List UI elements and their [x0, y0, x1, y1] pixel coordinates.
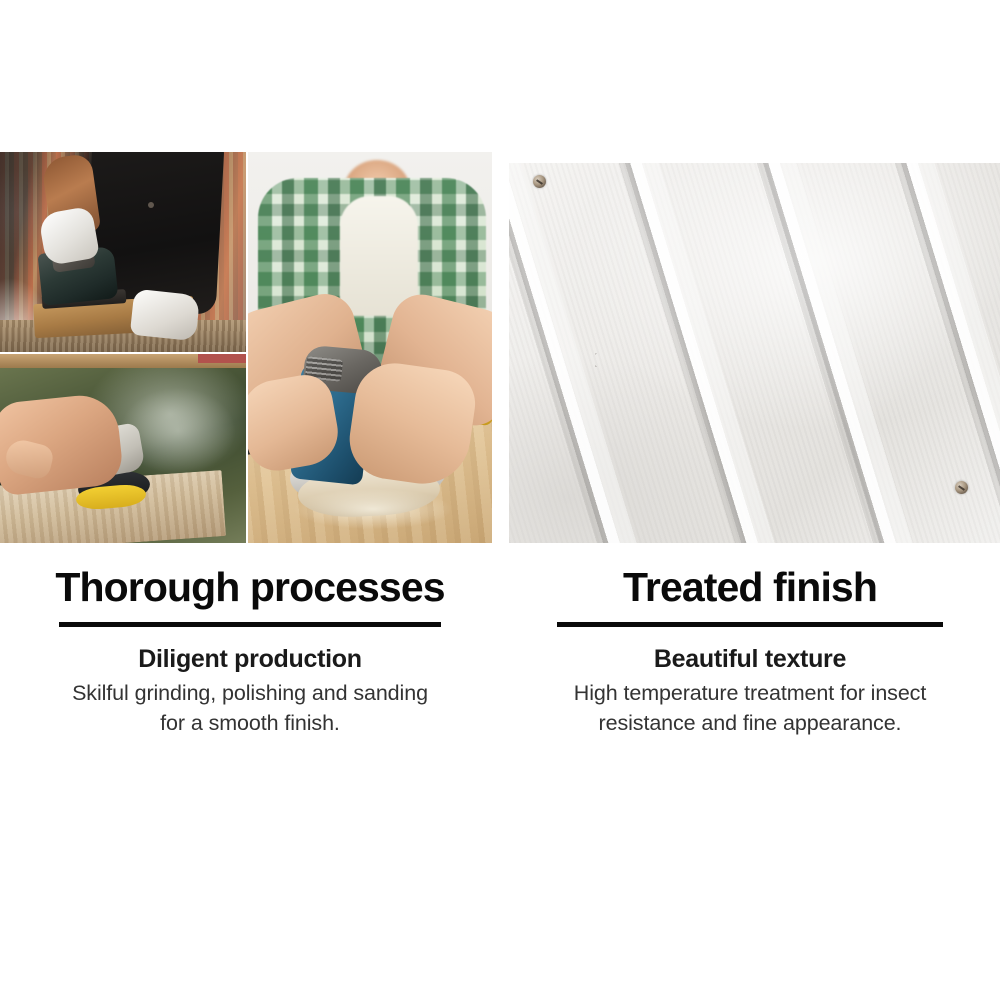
feature-title: Thorough processes: [0, 566, 500, 609]
screw-icon: [955, 481, 968, 494]
title-divider: [557, 622, 943, 627]
orbital-sander-photo: [248, 152, 492, 543]
thorough-processes-collage: [0, 152, 492, 543]
collage-right-column: [248, 152, 492, 543]
collage-left-column: [0, 152, 246, 543]
work-glove-right: [130, 289, 200, 342]
screw-icon: [533, 175, 546, 188]
treated-finish-text-block: Treated finish Beautiful texture High te…: [500, 566, 1000, 739]
surface-blemish: [595, 353, 611, 367]
media-band: [0, 0, 1000, 552]
product-feature-page: Thorough processes Diligent production S…: [0, 0, 1000, 1000]
sawdust-haze: [268, 482, 478, 536]
feature-subtitle: Diligent production: [0, 645, 500, 673]
feature-title: Treated finish: [500, 566, 1000, 609]
sanding-workshop-photo: [0, 152, 246, 352]
timber-grain-texture: [509, 163, 1000, 543]
title-divider: [59, 622, 441, 627]
feature-subtitle: Beautiful texture: [500, 645, 1000, 673]
work-glove-left: [38, 206, 100, 267]
feature-body-text: High temperature treatment for insect re…: [535, 679, 965, 738]
angle-grinder-polishing-photo: [0, 354, 246, 543]
photo-lighting-gradient: [509, 163, 1000, 543]
red-accent-strip: [198, 354, 246, 363]
white-timber-slats-photo: [509, 163, 1000, 543]
thorough-processes-text-block: Thorough processes Diligent production S…: [0, 566, 500, 739]
feature-body-text: Skilful grinding, polishing and sanding …: [70, 679, 430, 738]
apron-rivet: [148, 202, 154, 208]
